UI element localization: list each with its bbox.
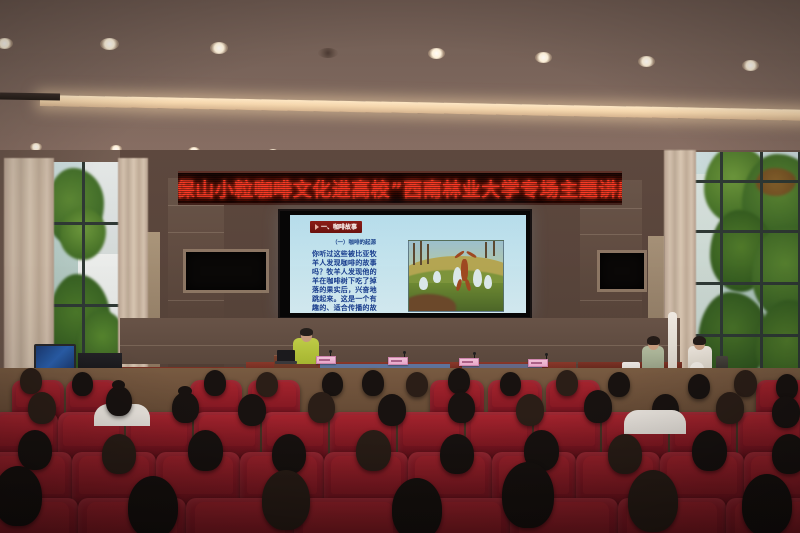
audience-head bbox=[308, 392, 335, 423]
audience-head bbox=[378, 394, 406, 426]
audience-shoulders bbox=[624, 410, 686, 434]
audience-head bbox=[608, 372, 630, 397]
projection-screen: 一、咖啡故事 （一）咖啡的起源 你听过这些被比亚牧羊人发现咖啡的故事吗？牧羊人发… bbox=[278, 209, 532, 319]
painting-goat bbox=[484, 275, 492, 289]
audience-head bbox=[502, 462, 554, 528]
audience-head bbox=[500, 372, 521, 396]
slide-title-banner: 一、咖啡故事 bbox=[310, 221, 362, 233]
audience-head bbox=[688, 374, 710, 399]
audience-head bbox=[628, 470, 678, 532]
lecture-hall-photo: “保山小粒咖啡文化进高校”西南林业大学专场主题讲座 一、咖啡故事 （一）咖啡的起… bbox=[0, 0, 800, 533]
panel-seam bbox=[580, 234, 642, 235]
auditorium-seat bbox=[294, 498, 402, 533]
audience-head bbox=[0, 466, 42, 526]
audience-head bbox=[392, 478, 442, 533]
audience-head bbox=[772, 396, 800, 428]
audience-hair-bun bbox=[178, 386, 192, 396]
audience-head bbox=[692, 430, 727, 471]
painting-goat bbox=[433, 271, 441, 283]
triangle-bullet-icon bbox=[315, 224, 319, 230]
audience-head bbox=[18, 430, 52, 470]
ceiling-downlight bbox=[428, 48, 445, 59]
painting-goat bbox=[419, 277, 428, 290]
ceiling-vent bbox=[318, 48, 338, 58]
audience-head bbox=[772, 434, 800, 474]
led-banner-text: “保山小粒咖啡文化进高校”西南林业大学专场主题讲座 bbox=[178, 175, 622, 202]
ceiling-downlight bbox=[638, 56, 655, 67]
window-right bbox=[690, 152, 800, 374]
painting-tree bbox=[420, 241, 422, 265]
window-mullion bbox=[690, 282, 800, 285]
ceiling-downlight bbox=[0, 38, 13, 49]
panel-seam bbox=[168, 205, 224, 206]
panel-seam bbox=[580, 300, 642, 301]
speaker-hair bbox=[300, 328, 313, 336]
audience-head bbox=[356, 430, 391, 471]
panel-seam bbox=[168, 300, 224, 301]
slide-subtitle: （一）咖啡的起源 bbox=[332, 238, 376, 246]
ceiling-downlight bbox=[100, 38, 119, 50]
audience-head bbox=[256, 372, 278, 397]
painting-tree bbox=[485, 242, 487, 258]
audience-head bbox=[516, 394, 544, 426]
window-mullion bbox=[690, 230, 800, 233]
painting-goat bbox=[473, 269, 482, 287]
led-banner: “保山小粒咖啡文化进高校”西南林业大学专场主题讲座 bbox=[178, 171, 622, 205]
audience-head bbox=[72, 372, 93, 396]
audience-head bbox=[204, 370, 226, 396]
window-mullion bbox=[690, 180, 800, 183]
window-mullion bbox=[52, 222, 120, 225]
painting-shepherd bbox=[461, 259, 468, 281]
window-mullion bbox=[82, 162, 85, 370]
audience-head bbox=[448, 392, 475, 423]
audience-head bbox=[188, 430, 223, 471]
demo-staff-hair bbox=[647, 336, 660, 345]
cove-light-strip bbox=[40, 95, 800, 121]
audience-head bbox=[716, 392, 744, 424]
audience-head bbox=[272, 434, 306, 474]
audience-head bbox=[362, 370, 384, 396]
slide-title: 一、咖啡故事 bbox=[321, 222, 357, 231]
audience-head bbox=[406, 372, 428, 397]
audience-head bbox=[556, 370, 578, 396]
audience-head bbox=[262, 470, 310, 530]
painting-tree bbox=[427, 244, 429, 264]
wall-dark-window-left bbox=[183, 249, 269, 293]
wall-dark-window-right bbox=[597, 250, 647, 292]
stage-wall-seam bbox=[120, 345, 680, 346]
audience-head bbox=[102, 434, 136, 474]
audience-head bbox=[742, 474, 792, 533]
presentation-slide: 一、咖啡故事 （一）咖啡的起源 你听过这些被比亚牧羊人发现咖啡的故事吗？牧羊人发… bbox=[290, 215, 526, 313]
audience-head bbox=[734, 370, 757, 397]
window-mullion bbox=[52, 304, 120, 307]
demo-staff-hair bbox=[693, 336, 706, 345]
audience-head bbox=[448, 368, 470, 394]
audience-head bbox=[584, 390, 612, 423]
audience-hair-bun bbox=[112, 380, 125, 390]
ceiling-downlight bbox=[535, 52, 552, 63]
audience-head bbox=[608, 434, 642, 474]
name-card bbox=[459, 358, 479, 366]
panel-seam bbox=[580, 208, 642, 209]
audience-head bbox=[128, 476, 178, 533]
audience-head bbox=[238, 394, 266, 426]
ceiling-recess-shadow bbox=[0, 92, 60, 100]
painting-tree bbox=[413, 243, 415, 265]
audience-head bbox=[440, 434, 474, 474]
slide-body-text: 你听过这些被比亚牧羊人发现咖啡的故事吗？牧羊人发现他的羊在咖啡树下吃了掉落的果实… bbox=[312, 250, 382, 313]
name-card bbox=[388, 357, 408, 365]
name-card bbox=[528, 359, 548, 367]
painting-tree bbox=[493, 241, 495, 256]
ceiling-downlight bbox=[210, 42, 228, 54]
window-mullion bbox=[760, 152, 763, 374]
laptop-base[interactable] bbox=[275, 361, 297, 364]
audience-head bbox=[20, 368, 42, 394]
panel-seam bbox=[168, 232, 224, 233]
slide-illustration bbox=[408, 240, 504, 312]
window-left bbox=[52, 162, 120, 370]
audience-head bbox=[106, 386, 132, 416]
audience-head bbox=[28, 392, 56, 424]
audience-head bbox=[172, 392, 199, 423]
window-mullion bbox=[720, 152, 723, 374]
window-mullion bbox=[690, 334, 800, 337]
name-card bbox=[316, 356, 336, 364]
ceiling-downlight bbox=[742, 60, 759, 71]
